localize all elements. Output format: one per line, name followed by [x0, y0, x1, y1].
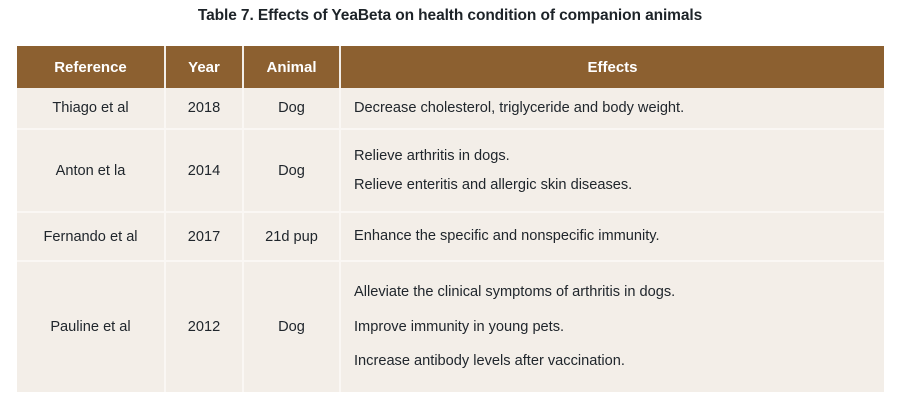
cell-reference: Thiago et al — [17, 88, 165, 129]
cell-year: 2014 — [165, 129, 243, 212]
cell-reference: Anton et la — [17, 129, 165, 212]
table-row: Anton et la 2014 Dog Relieve arthritis i… — [17, 129, 884, 212]
cell-animal: Dog — [243, 129, 340, 212]
effects-table: Reference Year Animal Effects Thiago et … — [17, 46, 884, 392]
column-header-reference: Reference — [17, 46, 165, 88]
cell-animal: 21d pup — [243, 212, 340, 261]
effect-line: Decrease cholesterol, triglyceride and b… — [354, 97, 874, 120]
column-header-effects: Effects — [340, 46, 884, 88]
effect-line: Improve immunity in young pets. — [354, 310, 874, 345]
column-header-animal: Animal — [243, 46, 340, 88]
column-header-year: Year — [165, 46, 243, 88]
cell-effects: Alleviate the clinical symptoms of arthr… — [340, 261, 884, 392]
table-body: Thiago et al 2018 Dog Decrease cholester… — [17, 88, 884, 392]
cell-reference: Fernando et al — [17, 212, 165, 261]
cell-effects: Decrease cholesterol, triglyceride and b… — [340, 88, 884, 129]
table-header-row: Reference Year Animal Effects — [17, 46, 884, 88]
table-row: Fernando et al 2017 21d pup Enhance the … — [17, 212, 884, 261]
cell-effects: Relieve arthritis in dogs. Relieve enter… — [340, 129, 884, 212]
effect-line: Enhance the specific and nonspecific imm… — [354, 225, 874, 248]
cell-animal: Dog — [243, 261, 340, 392]
cell-effects: Enhance the specific and nonspecific imm… — [340, 212, 884, 261]
table-header: Reference Year Animal Effects — [17, 46, 884, 88]
cell-year: 2012 — [165, 261, 243, 392]
effect-line: Increase antibody levels after vaccinati… — [354, 344, 874, 379]
table-container: Reference Year Animal Effects Thiago et … — [17, 46, 884, 392]
cell-animal: Dog — [243, 88, 340, 129]
effect-line: Alleviate the clinical symptoms of arthr… — [354, 275, 874, 310]
effect-line: Relieve arthritis in dogs. — [354, 142, 874, 171]
cell-year: 2018 — [165, 88, 243, 129]
table-page: Table 7. Effects of YeaBeta on health co… — [0, 0, 900, 406]
table-caption: Table 7. Effects of YeaBeta on health co… — [0, 7, 900, 25]
table-row: Pauline et al 2012 Dog Alleviate the cli… — [17, 261, 884, 392]
table-row: Thiago et al 2018 Dog Decrease cholester… — [17, 88, 884, 129]
cell-year: 2017 — [165, 212, 243, 261]
effect-line: Relieve enteritis and allergic skin dise… — [354, 171, 874, 200]
cell-reference: Pauline et al — [17, 261, 165, 392]
